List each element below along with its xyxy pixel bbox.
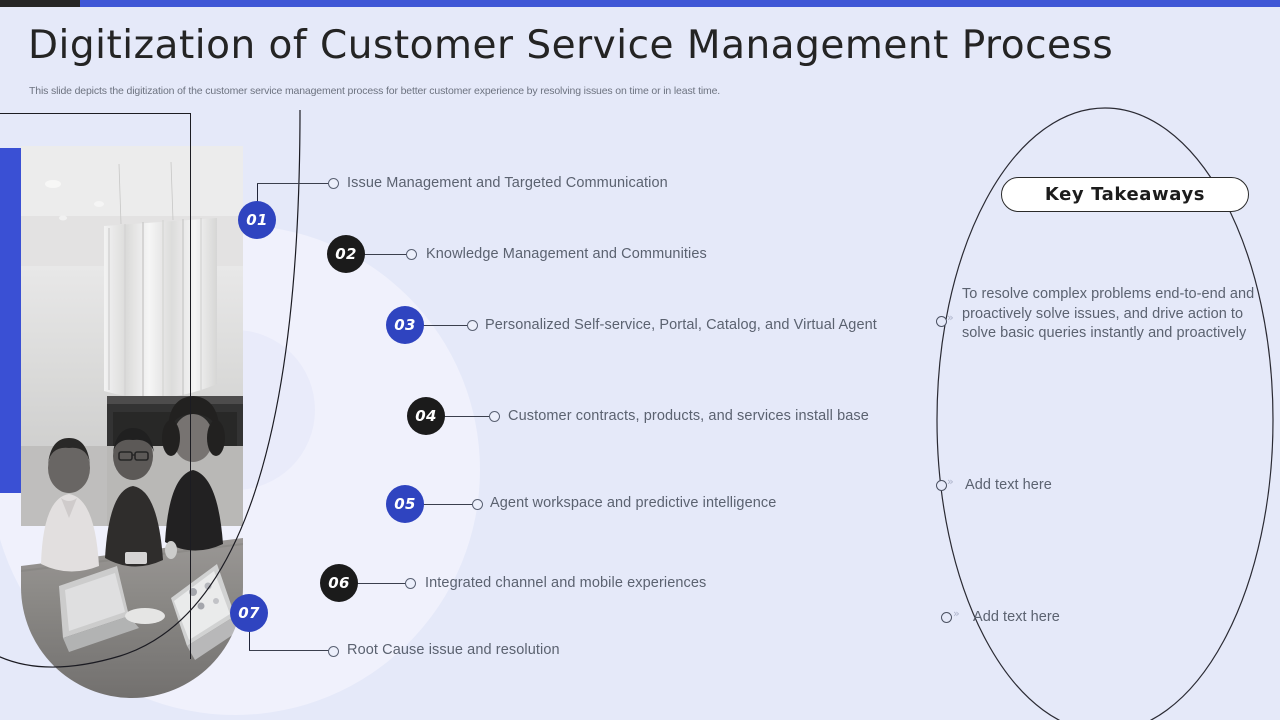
key-takeaway-dot-3 [941, 612, 952, 623]
process-badge-07[interactable]: 07 [230, 594, 268, 632]
process-connector-04 [443, 416, 493, 417]
key-takeaway-text-3: Add text here [973, 608, 1060, 628]
key-takeaways-pill[interactable]: Key Takeaways [1001, 177, 1249, 212]
process-ring-01 [328, 178, 339, 189]
process-label-03: Personalized Self-service, Portal, Catal… [485, 317, 877, 333]
process-ring-03 [467, 320, 478, 331]
process-label-02: Knowledge Management and Communities [426, 246, 707, 262]
process-connector-05 [422, 504, 475, 505]
process-ring-06 [405, 578, 416, 589]
topbar-dark-accent [0, 0, 80, 7]
process-list: 01 Issue Management and Targeted Communi… [0, 0, 1280, 720]
process-connector-07-vertical [249, 630, 250, 651]
key-takeaway-dot-1 [936, 316, 947, 327]
key-takeaway-dot-2 [936, 480, 947, 491]
process-badge-01[interactable]: 01 [238, 201, 276, 239]
process-label-04: Customer contracts, products, and servic… [508, 408, 869, 424]
process-badge-05[interactable]: 05 [386, 485, 424, 523]
process-ring-05 [472, 499, 483, 510]
process-badge-03[interactable]: 03 [386, 306, 424, 344]
process-ring-04 [489, 411, 500, 422]
chevron-double-right-icon-2: » [947, 475, 954, 488]
process-connector-07 [249, 650, 330, 651]
process-connector-03 [422, 325, 472, 326]
chevron-double-right-icon-1: » [947, 311, 954, 324]
key-takeaway-text-2: Add text here [965, 476, 1052, 496]
process-label-06: Integrated channel and mobile experience… [425, 575, 706, 591]
topbar-blue-accent [80, 0, 1280, 7]
process-label-05: Agent workspace and predictive intellige… [490, 495, 776, 511]
process-ring-07 [328, 646, 339, 657]
process-ring-02 [406, 249, 417, 260]
process-badge-02[interactable]: 02 [327, 235, 365, 273]
process-connector-01 [257, 183, 330, 184]
key-takeaways-pill-label: Key Takeaways [1045, 184, 1205, 205]
process-badge-06[interactable]: 06 [320, 564, 358, 602]
chevron-double-right-icon-3: » [953, 607, 960, 620]
process-badge-04[interactable]: 04 [407, 397, 445, 435]
process-connector-06 [356, 583, 407, 584]
process-label-07: Root Cause issue and resolution [347, 642, 560, 658]
key-takeaway-text-1: To resolve complex problems end-to-end a… [962, 285, 1262, 344]
process-label-01: Issue Management and Targeted Communicat… [347, 175, 668, 191]
slide-canvas: Digitization of Customer Service Managem… [0, 0, 1280, 720]
process-connector-02 [363, 254, 409, 255]
